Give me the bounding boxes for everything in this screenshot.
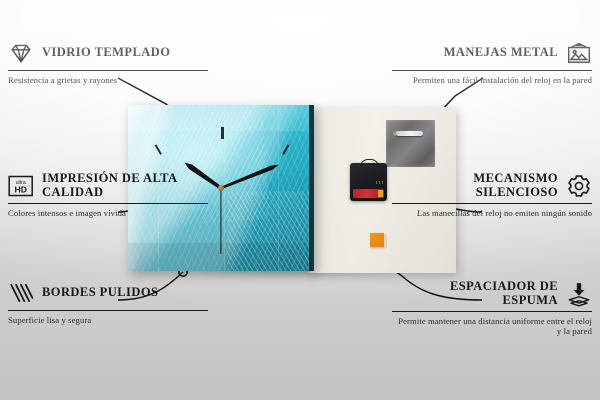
ultra-hd-icon: ultra HD <box>8 173 34 199</box>
feature-description: Las manecillas del reloj no emiten ningú… <box>392 208 592 219</box>
svg-text:HD: HD <box>14 184 26 194</box>
picture-frame-hanger-icon <box>566 40 592 66</box>
feature-title: VIDRIO TEMPLADO <box>42 46 170 60</box>
feature-divider <box>8 70 208 71</box>
feature-description: Superficie lisa y segura <box>8 315 208 326</box>
feature-title: ESPACIADOR DE ESPUMA <box>392 280 558 307</box>
foam-spacer-pad <box>370 233 384 247</box>
feature-description: Permite mantener una distancia uniforme … <box>392 316 592 337</box>
clock-center-cap <box>218 185 224 191</box>
foam-spacer-icon <box>566 281 592 307</box>
feature-bordes-pulidos: BORDES PULIDOS Superficie lisa y segura <box>8 280 208 325</box>
aa-battery <box>353 189 384 198</box>
feature-divider <box>392 70 592 71</box>
feature-divider <box>392 203 592 204</box>
feature-title: MECANISMO SILENCIOSO <box>392 172 558 199</box>
feature-title: MANEJAS METAL <box>444 46 558 60</box>
feature-mecanismo-silencioso: MECANISMO SILENCIOSO Las manecillas del … <box>392 172 592 218</box>
feature-description: Resistencia a grietas y rayones <box>8 75 208 86</box>
glass-wall-clock <box>128 105 314 271</box>
feature-vidrio-templado: VIDRIO TEMPLADO Resistencia a grietas y … <box>8 40 208 85</box>
silent-quartz-mechanism <box>350 163 387 201</box>
glass-thickness-edge <box>309 105 314 271</box>
feature-title: BORDES PULIDOS <box>42 286 158 300</box>
clock-hands <box>128 105 314 271</box>
feature-manejas-metal: MANEJAS METAL Permiten una fácil instala… <box>392 40 592 85</box>
diamond-icon <box>8 40 34 66</box>
product-infographic: VIDRIO TEMPLADO Resistencia a grietas y … <box>0 0 600 400</box>
hour-hand <box>183 161 222 191</box>
foam-side <box>384 235 387 248</box>
gear-icon <box>566 173 592 199</box>
feature-divider <box>8 310 208 311</box>
mechanism-vents <box>376 181 384 184</box>
feature-description: Permiten una fácil instalación del reloj… <box>392 75 592 86</box>
hanger-slot <box>396 131 423 136</box>
second-hand <box>220 188 221 254</box>
metal-hanger-plate <box>386 120 435 167</box>
minute-hand <box>220 163 279 190</box>
mechanism-hook <box>360 159 379 168</box>
feature-divider <box>392 311 592 312</box>
feature-espaciador-espuma: ESPACIADOR DE ESPUMA Permite mantener un… <box>392 280 592 337</box>
polished-edges-icon <box>8 280 34 306</box>
